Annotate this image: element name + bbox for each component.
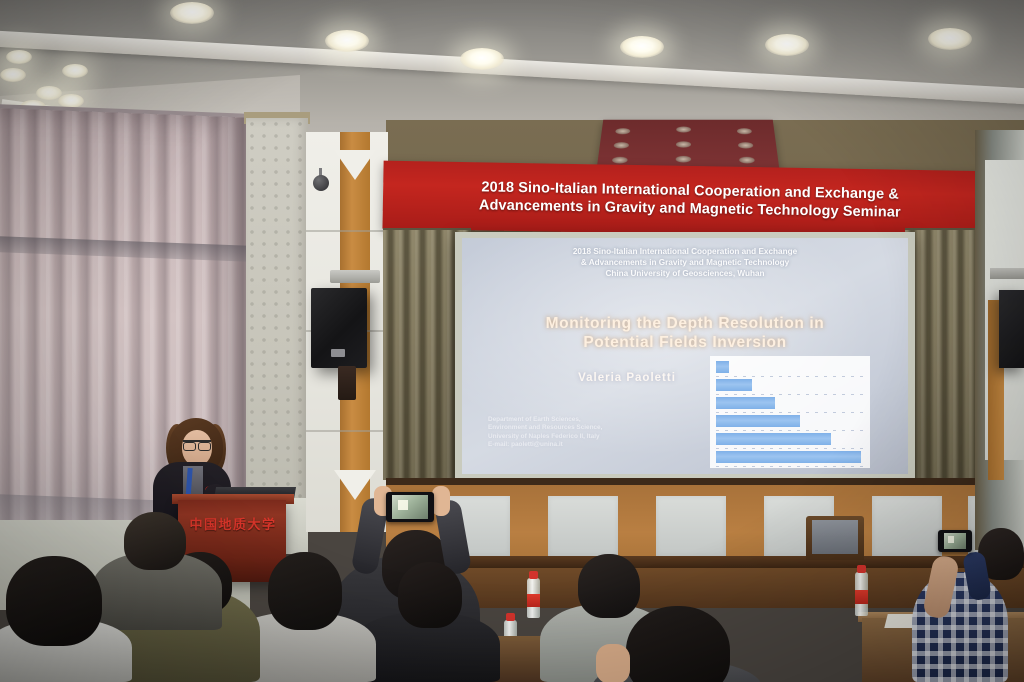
slide-header: 2018 Sino-Italian International Cooperat… bbox=[520, 246, 850, 279]
panel-light bbox=[676, 127, 691, 133]
chart-bar bbox=[716, 451, 861, 463]
chart-gridline bbox=[716, 394, 864, 395]
water-bottle bbox=[855, 572, 868, 616]
attendee-head bbox=[626, 606, 730, 682]
slide-bar-chart bbox=[710, 356, 870, 468]
chart-gridline bbox=[716, 430, 864, 431]
chart-bar-row bbox=[716, 432, 864, 447]
ceiling-downlight bbox=[460, 48, 504, 70]
ceiling-downlight bbox=[6, 50, 32, 64]
panel-light bbox=[613, 142, 629, 148]
chart-bar-row bbox=[716, 414, 864, 429]
stage-front-panel bbox=[548, 496, 618, 556]
tile-seam bbox=[306, 430, 388, 432]
wood-chevron bbox=[334, 150, 376, 180]
tile-seam bbox=[306, 230, 388, 232]
wall-speaker-right bbox=[999, 290, 1024, 368]
affiliation-line-4: E-mail: paoletti@unina.it bbox=[488, 441, 728, 449]
ceiling-light-panel bbox=[596, 120, 779, 170]
attendee-head bbox=[578, 554, 640, 618]
chart-bar bbox=[716, 361, 729, 373]
speaker-bracket bbox=[338, 366, 356, 400]
ceiling-downlight bbox=[765, 34, 809, 56]
attendee-head bbox=[268, 552, 342, 630]
ceiling-downlight bbox=[928, 28, 972, 50]
slide-affiliation: Department of Earth Sciences, Environmen… bbox=[488, 416, 728, 450]
chart-bar bbox=[716, 379, 752, 391]
panel-light bbox=[615, 128, 630, 134]
panel-light bbox=[612, 157, 628, 164]
air-vent bbox=[330, 270, 380, 283]
photo-scene: 2018 Sino-Italian International Cooperat… bbox=[0, 0, 1024, 682]
chart-bar-row bbox=[716, 450, 864, 465]
smartphone bbox=[386, 492, 434, 522]
curtain-band bbox=[0, 236, 246, 262]
smartphone bbox=[938, 530, 972, 552]
attendee-head bbox=[124, 512, 186, 570]
projection-screen: 2018 Sino-Italian International Cooperat… bbox=[462, 238, 908, 474]
phone-screen bbox=[944, 533, 966, 549]
chart-bar bbox=[716, 415, 800, 427]
acoustic-panel-column bbox=[246, 118, 308, 548]
attendee-hand bbox=[432, 486, 450, 516]
panel-light bbox=[739, 157, 755, 164]
slide-title-line-1: Monitoring the Depth Resolution in bbox=[490, 314, 880, 333]
chart-bar-row bbox=[716, 360, 864, 375]
panel-light bbox=[676, 156, 691, 163]
panel-light bbox=[738, 142, 754, 148]
glasses-icon bbox=[183, 440, 211, 449]
wood-chevron bbox=[334, 470, 376, 500]
attendee-head bbox=[6, 556, 102, 646]
chart-gridline bbox=[716, 466, 864, 467]
panel-light bbox=[676, 141, 691, 147]
chart-gridline bbox=[716, 412, 864, 413]
speaker-badge bbox=[331, 349, 345, 357]
air-vent-right bbox=[990, 268, 1024, 279]
chart-bar-row bbox=[716, 378, 864, 393]
ceiling-downlight bbox=[325, 30, 369, 52]
water-bottle bbox=[527, 578, 540, 618]
bottle-label bbox=[527, 594, 540, 607]
ceiling-downlight bbox=[62, 64, 88, 78]
bottle-label bbox=[855, 590, 868, 604]
chart-gridline bbox=[716, 448, 864, 449]
ceiling-downlight bbox=[170, 2, 214, 24]
ceiling-downlight bbox=[620, 36, 664, 58]
bottle-cap bbox=[506, 613, 515, 621]
phone-screen bbox=[392, 495, 428, 519]
attendee-hand bbox=[596, 644, 630, 682]
stage-front-panel bbox=[656, 496, 726, 556]
stage-front-rail bbox=[386, 556, 1024, 568]
slide-header-line-3: China University of Geosciences, Wuhan bbox=[520, 268, 850, 279]
chart-bar-row bbox=[716, 396, 864, 411]
chart-bar bbox=[716, 433, 831, 445]
affiliation-line-2: Environment and Resources Science, bbox=[488, 424, 728, 432]
chart-gridline bbox=[716, 376, 864, 377]
panel-light bbox=[737, 128, 752, 134]
slide-title-line-2: Potential Fields Inversion bbox=[490, 333, 880, 352]
affiliation-line-3: University of Naples Federico II, Italy bbox=[488, 433, 728, 441]
slide-header-line-2: & Advancements in Gravity and Magnetic T… bbox=[520, 257, 850, 268]
lectern-inscription: 中国地质大学 bbox=[186, 514, 280, 533]
bottle-cap bbox=[529, 571, 538, 579]
bottle-cap bbox=[857, 565, 866, 573]
security-camera-icon bbox=[313, 175, 329, 191]
stage-front-panel bbox=[872, 496, 942, 556]
attendee-head bbox=[398, 562, 462, 628]
chart-bar bbox=[716, 397, 775, 409]
slide-header-line-1: 2018 Sino-Italian International Cooperat… bbox=[520, 246, 850, 257]
ceiling-downlight bbox=[0, 68, 26, 82]
stage-chair-back bbox=[812, 520, 858, 554]
slide-title: Monitoring the Depth Resolution in Poten… bbox=[490, 314, 880, 352]
